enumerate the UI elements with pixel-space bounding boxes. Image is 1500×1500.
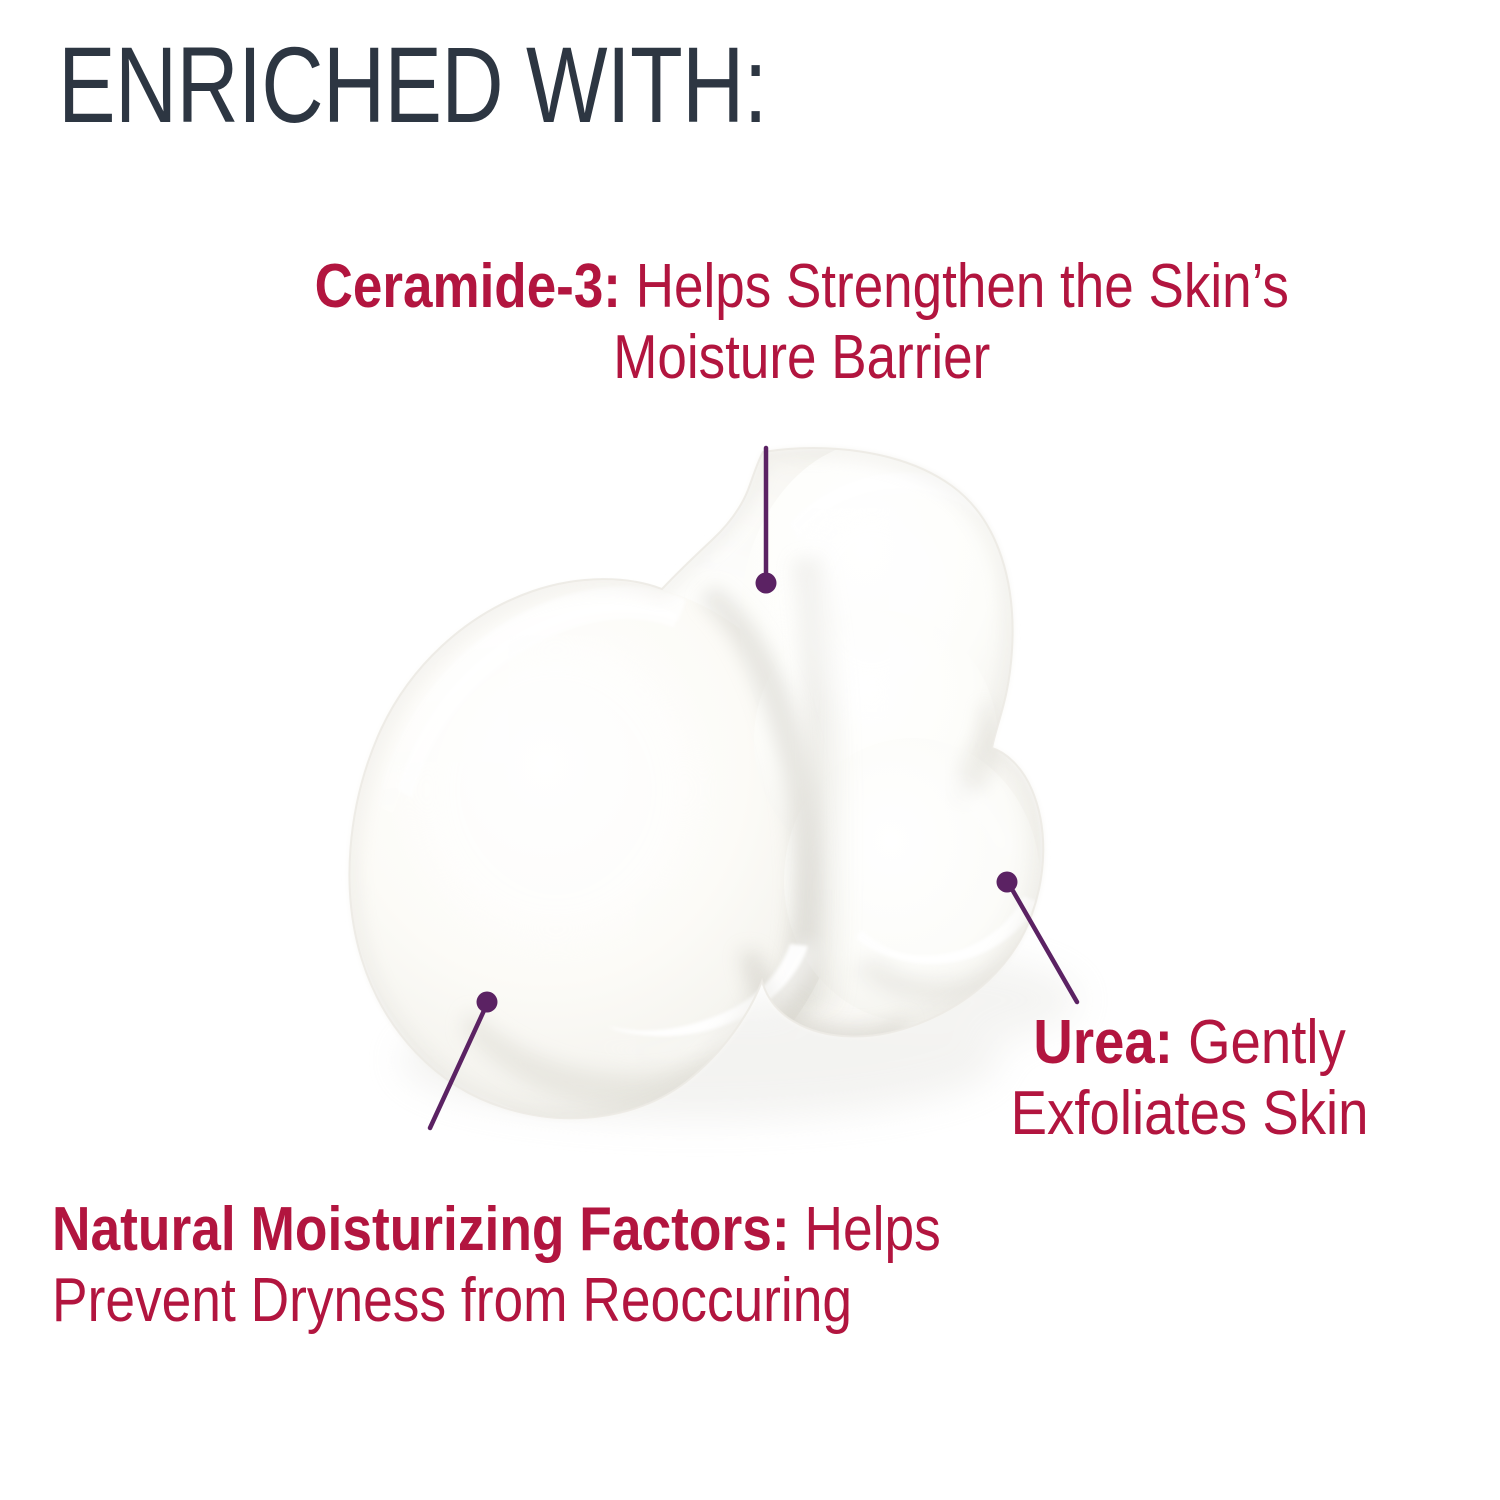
callout-ceramide-lead: Ceramide-3: [315, 252, 621, 321]
callout-nmf-lead: Natural Moisturizing Factors: [52, 1195, 790, 1264]
callout-urea-lead: Urea: [1033, 1008, 1172, 1077]
callout-ceramide-body: Helps Strengthen the Skin’s Moisture Bar… [613, 252, 1289, 392]
callout-natural-moisturizing-factors: Natural Moisturizing Factors: Helps Prev… [52, 1195, 998, 1336]
infographic-canvas: ENRICHED WITH: [0, 0, 1500, 1500]
callout-ceramide: Ceramide-3: Helps Strengthen the Skin’s … [246, 252, 1358, 393]
callout-urea: Urea: Gently Exfoliates Skin [930, 1008, 1449, 1149]
